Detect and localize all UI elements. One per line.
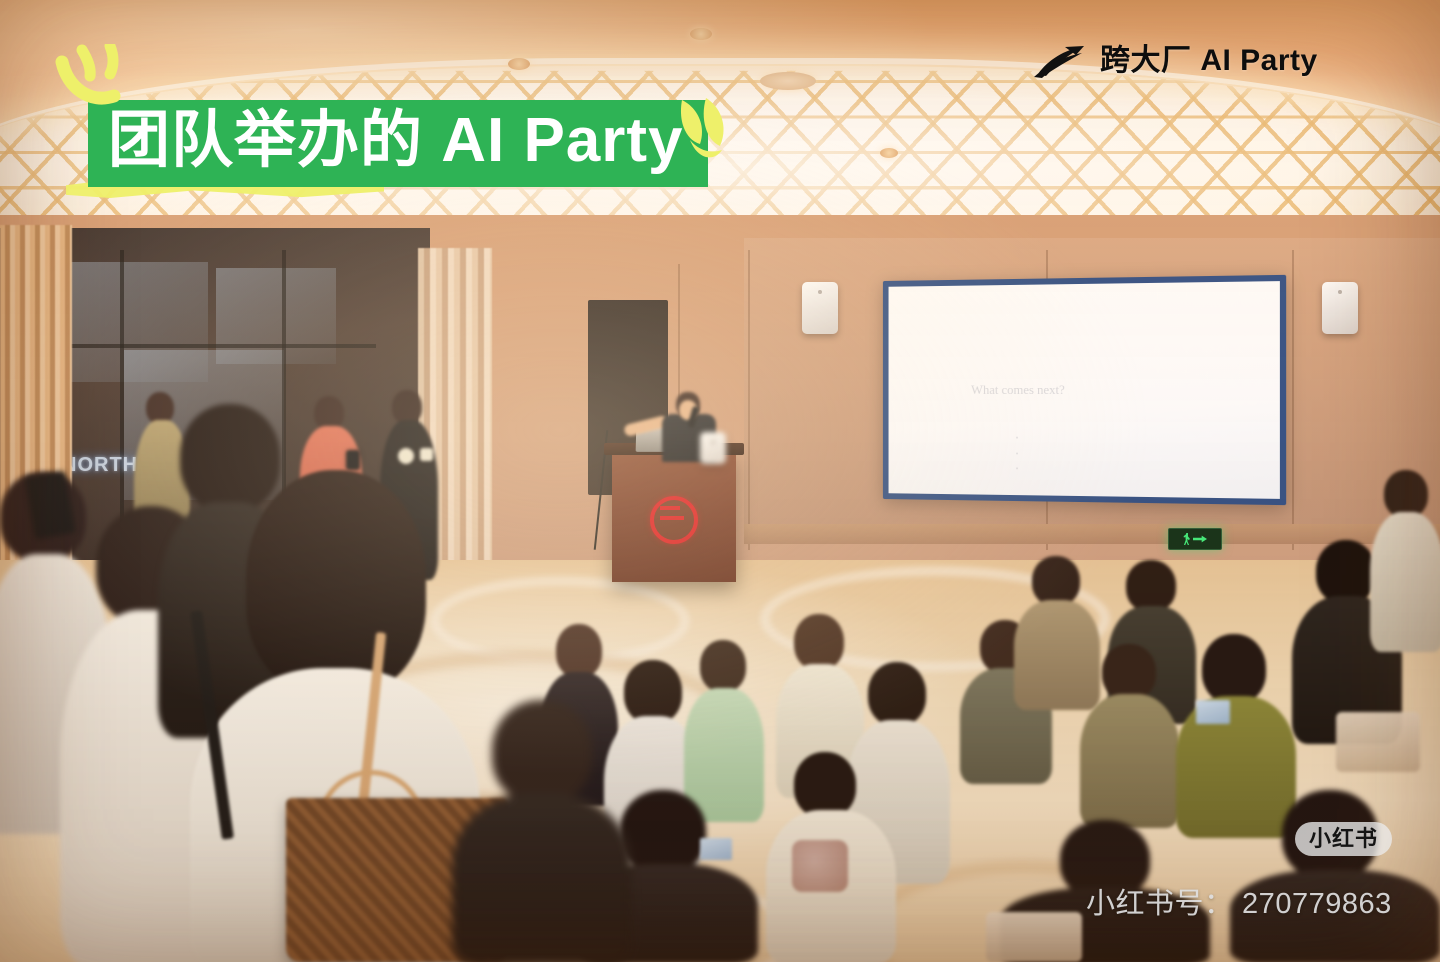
downlight-icon (508, 58, 530, 70)
wall-speaker (802, 282, 838, 334)
chair (1336, 712, 1420, 772)
leaf-sprout-icon (676, 96, 728, 168)
wall-seam (748, 250, 750, 550)
page-title: 团队举办的 AI Party (108, 108, 684, 173)
emergency-exit-icon (1168, 528, 1222, 550)
wall-seam (1292, 250, 1294, 550)
xiaohongshu-id-watermark: 小红书号： 270779863 (1086, 890, 1392, 919)
brand-logo-text: 跨大厂 AI Party (1100, 46, 1318, 76)
downlight-icon (880, 148, 898, 158)
phone-screen (1196, 700, 1230, 724)
ceiling-vent (760, 72, 816, 90)
foreground-person (452, 700, 632, 962)
slide-bullet-list (977, 431, 1030, 477)
podium (612, 452, 736, 582)
seated-person (1370, 470, 1440, 650)
brand-logo: 跨大厂 AI Party (1032, 44, 1318, 78)
floor-monitor (700, 432, 726, 464)
seated-person (1080, 644, 1180, 824)
seated-person (1230, 790, 1440, 962)
downlight-icon (690, 28, 712, 40)
xiaohongshu-badge: 小红书 (1295, 822, 1392, 856)
projection-screen: What comes next? (883, 275, 1286, 505)
screenshot-root: NORTH 创 What comes next? (0, 0, 1440, 962)
wall-speaker (1322, 282, 1358, 334)
red-circle-e-logo (650, 496, 698, 544)
title-banner: 团队举办的 AI Party (88, 100, 708, 187)
phone-screen (700, 838, 732, 860)
slide-bullet (1016, 446, 1030, 461)
slide-bullet (1016, 431, 1030, 446)
glass-transom (56, 344, 376, 348)
slide-bullet (1016, 461, 1030, 476)
smile-doodle-icon (52, 44, 144, 122)
wave-swoosh-logo-icon (1032, 44, 1088, 78)
seated-person (766, 752, 896, 962)
phone (346, 450, 360, 470)
slide-title: What comes next? (971, 382, 1065, 398)
chair (986, 912, 1082, 962)
